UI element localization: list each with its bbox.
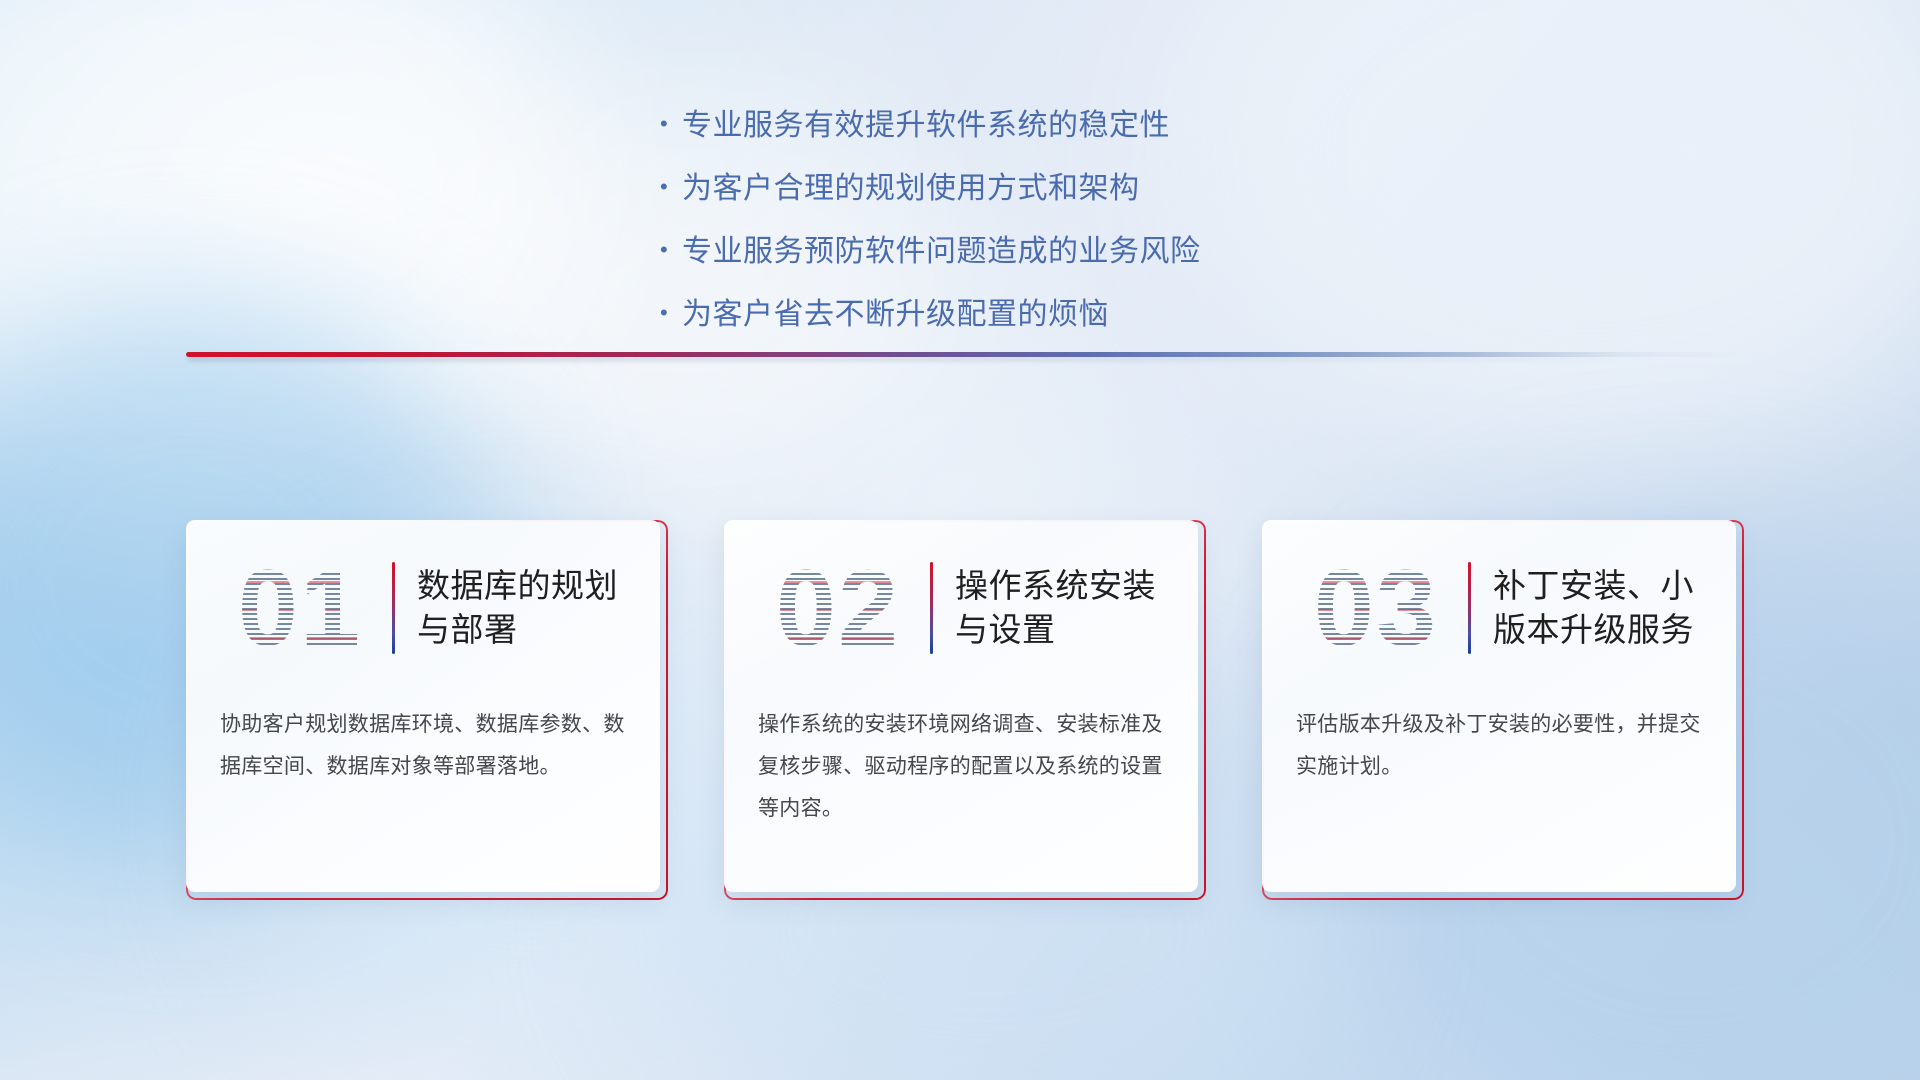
card-number: 02 — [750, 553, 926, 663]
bullet-text: 专业服务有效提升软件系统的稳定性 — [682, 108, 1170, 144]
service-card-01[interactable]: 01 数据库的规划 与部署 协助客户规划数据库环境、数据库参数、数据库空间、数据… — [186, 520, 668, 900]
card-title: 数据库的规划 与部署 — [417, 564, 634, 651]
card-body-text: 评估版本升级及补丁安装的必要性，并提交实施计划。 — [1262, 696, 1736, 788]
card-number: 01 — [212, 553, 388, 663]
card-title-line-2: 与部署 — [417, 608, 618, 652]
card-title-line-1: 补丁安装、小 — [1493, 564, 1694, 608]
divider-rule — [186, 352, 1746, 357]
card-title: 操作系统安装 与设置 — [955, 564, 1172, 651]
bullet-dot-icon: • — [660, 239, 682, 261]
slide-canvas: • 专业服务有效提升软件系统的稳定性 • 为客户合理的规划使用方式和架构 • 专… — [0, 0, 1920, 1080]
card-title-line-2: 版本升级服务 — [1493, 608, 1694, 652]
service-card-02[interactable]: 02 操作系统安装 与设置 操作系统的安装环境网络调查、安装标准及复核步骤、驱动… — [724, 520, 1206, 900]
card-title-line-2: 与设置 — [955, 608, 1156, 652]
list-item: • 为客户省去不断升级配置的烦恼 — [660, 297, 1440, 333]
background-blob-1 — [0, 0, 580, 480]
bullet-dot-icon: • — [660, 113, 682, 135]
card-accent-rule — [1468, 562, 1471, 654]
bullet-text: 专业服务预防软件问题造成的业务风险 — [682, 234, 1201, 270]
list-item: • 为客户合理的规划使用方式和架构 — [660, 171, 1440, 207]
card-header: 01 数据库的规划 与部署 — [186, 520, 660, 696]
card-header: 02 操作系统安装 与设置 — [724, 520, 1198, 696]
divider-shadow — [188, 357, 1732, 361]
card-title: 补丁安装、小 版本升级服务 — [1493, 564, 1710, 651]
service-card-group: 01 数据库的规划 与部署 协助客户规划数据库环境、数据库参数、数据库空间、数据… — [186, 520, 1746, 920]
bullet-text: 为客户合理的规划使用方式和架构 — [682, 171, 1140, 207]
service-card-03[interactable]: 03 补丁安装、小 版本升级服务 评估版本升级及补丁安装的必要性，并提交实施计划… — [1262, 520, 1744, 900]
list-item: • 专业服务有效提升软件系统的稳定性 — [660, 108, 1440, 144]
bullet-text: 为客户省去不断升级配置的烦恼 — [682, 297, 1109, 333]
list-item: • 专业服务预防软件问题造成的业务风险 — [660, 234, 1440, 270]
section-divider — [186, 348, 1746, 364]
card-surface: 03 补丁安装、小 版本升级服务 评估版本升级及补丁安装的必要性，并提交实施计划… — [1262, 520, 1736, 892]
card-title-line-1: 操作系统安装 — [955, 564, 1156, 608]
bullet-dot-icon: • — [660, 302, 682, 324]
card-accent-rule — [930, 562, 933, 654]
card-number: 03 — [1288, 553, 1464, 663]
benefits-bullet-list: • 专业服务有效提升软件系统的稳定性 • 为客户合理的规划使用方式和架构 • 专… — [660, 108, 1440, 360]
card-body-text: 操作系统的安装环境网络调查、安装标准及复核步骤、驱动程序的配置以及系统的设置等内… — [724, 696, 1198, 830]
card-surface: 01 数据库的规划 与部署 协助客户规划数据库环境、数据库参数、数据库空间、数据… — [186, 520, 660, 892]
card-surface: 02 操作系统安装 与设置 操作系统的安装环境网络调查、安装标准及复核步骤、驱动… — [724, 520, 1198, 892]
card-accent-rule — [392, 562, 395, 654]
card-title-line-1: 数据库的规划 — [417, 564, 618, 608]
card-header: 03 补丁安装、小 版本升级服务 — [1262, 520, 1736, 696]
card-body-text: 协助客户规划数据库环境、数据库参数、数据库空间、数据库对象等部署落地。 — [186, 696, 660, 788]
bullet-dot-icon: • — [660, 176, 682, 198]
